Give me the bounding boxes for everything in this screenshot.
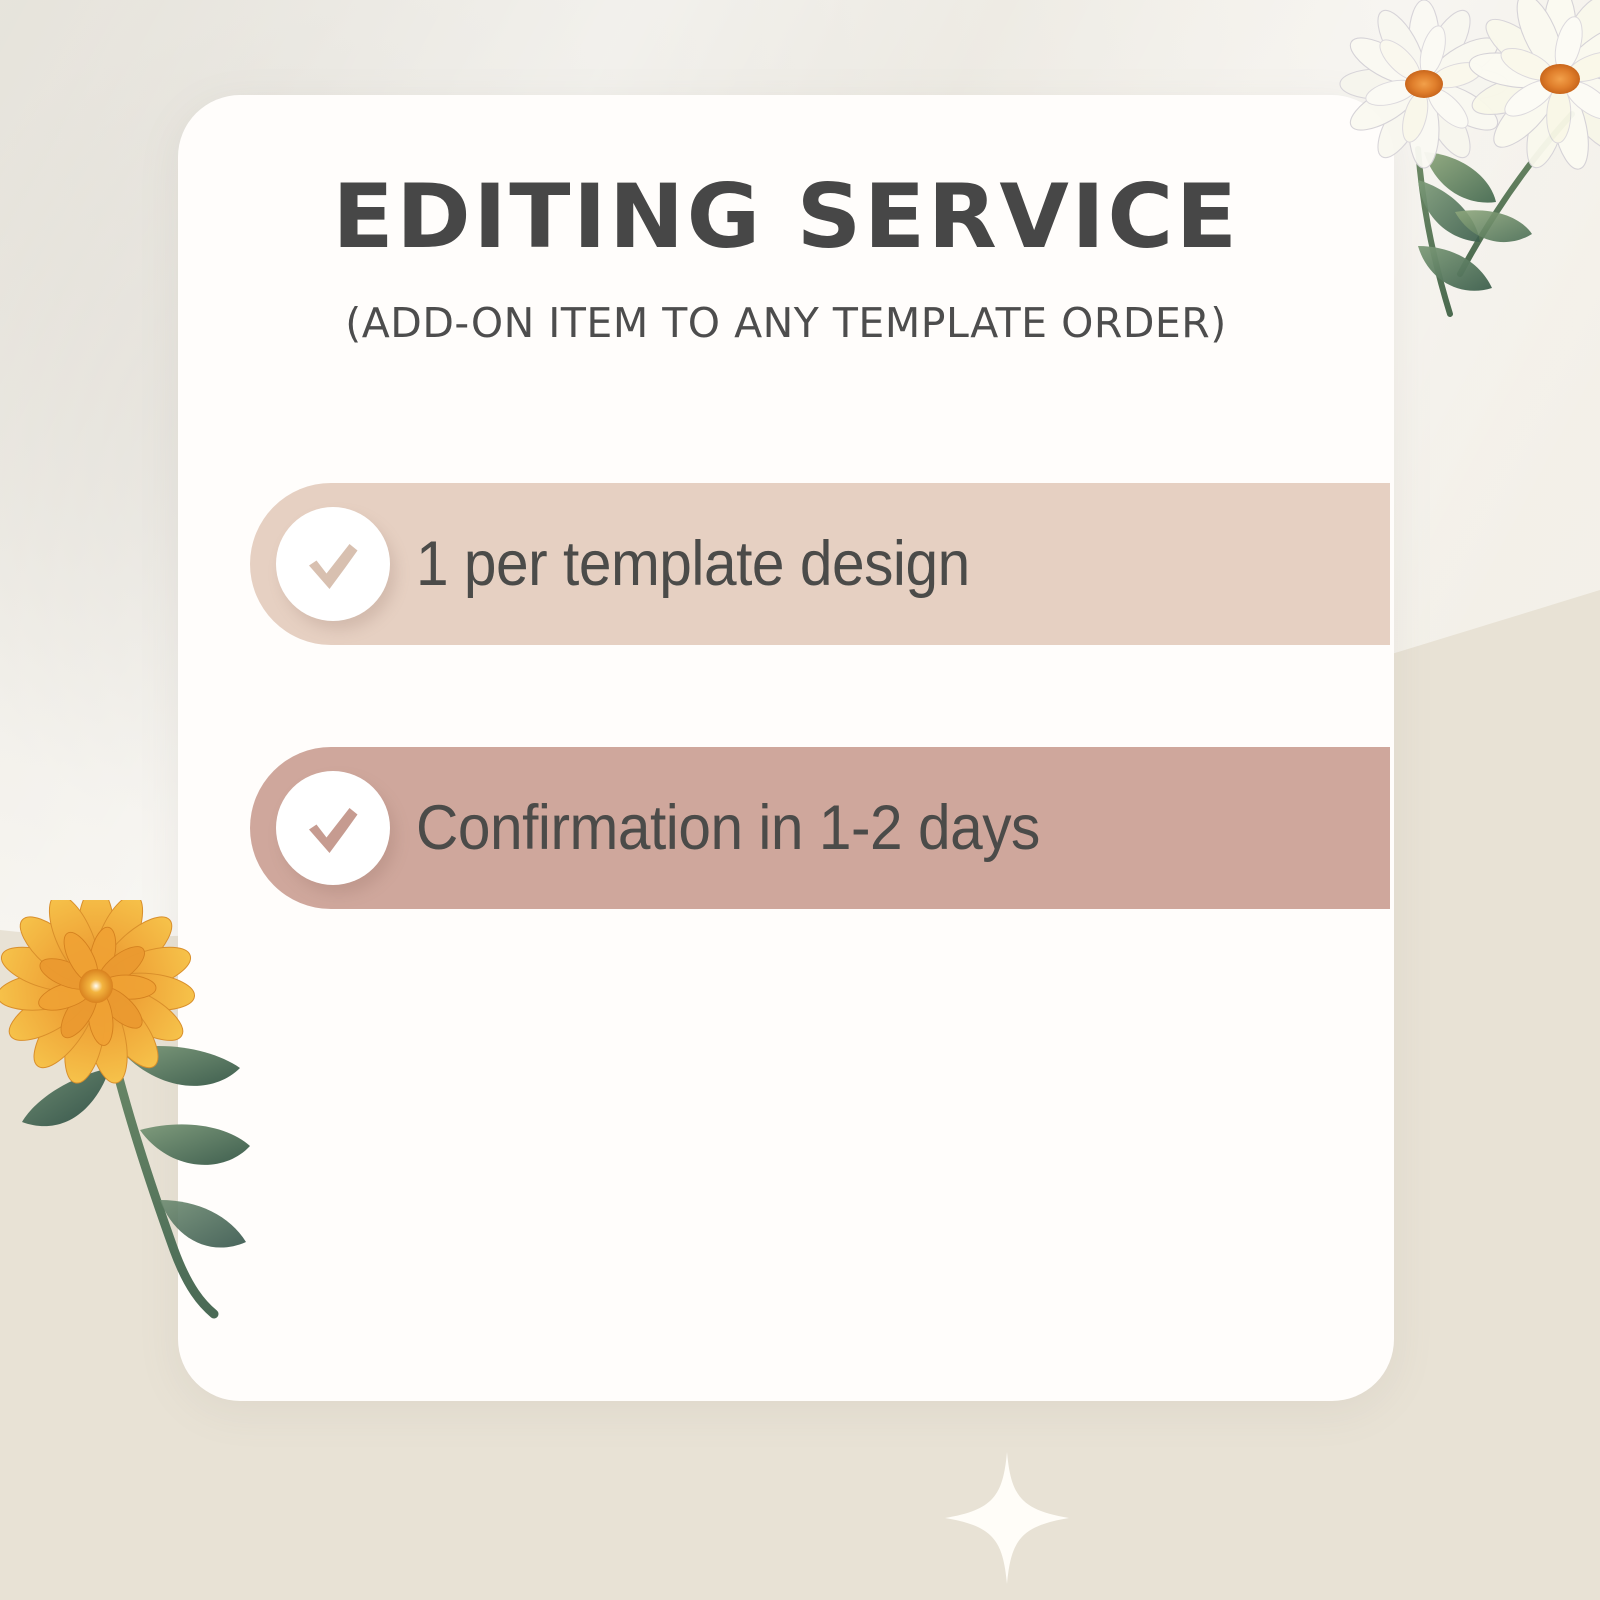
feature-check-badge [276, 507, 390, 621]
white-daisy-flowers-icon [1300, 0, 1600, 344]
feature-check-badge [276, 771, 390, 885]
feature-row[interactable]: 1 per template design [178, 483, 1394, 645]
page-subtitle: (ADD-ON ITEM TO ANY TEMPLATE ORDER) [178, 303, 1394, 344]
feature-label: Confirmation in 1-2 days [416, 747, 1040, 909]
poster-canvas: EDITING SERVICE (ADD-ON ITEM TO ANY TEMP… [0, 0, 1600, 1600]
service-card: EDITING SERVICE (ADD-ON ITEM TO ANY TEMP… [178, 95, 1394, 1401]
check-badge-circle [276, 771, 390, 885]
feature-list: 1 per template design Confirmation in 1-… [178, 483, 1394, 1011]
feature-row[interactable]: Confirmation in 1-2 days [178, 747, 1394, 909]
check-badge-circle [276, 507, 390, 621]
page-title: EDITING SERVICE [166, 173, 1406, 261]
sparkle-icon [945, 1452, 1069, 1584]
feature-label: 1 per template design [416, 483, 970, 645]
yellow-zinnia-flower-icon [0, 900, 308, 1320]
